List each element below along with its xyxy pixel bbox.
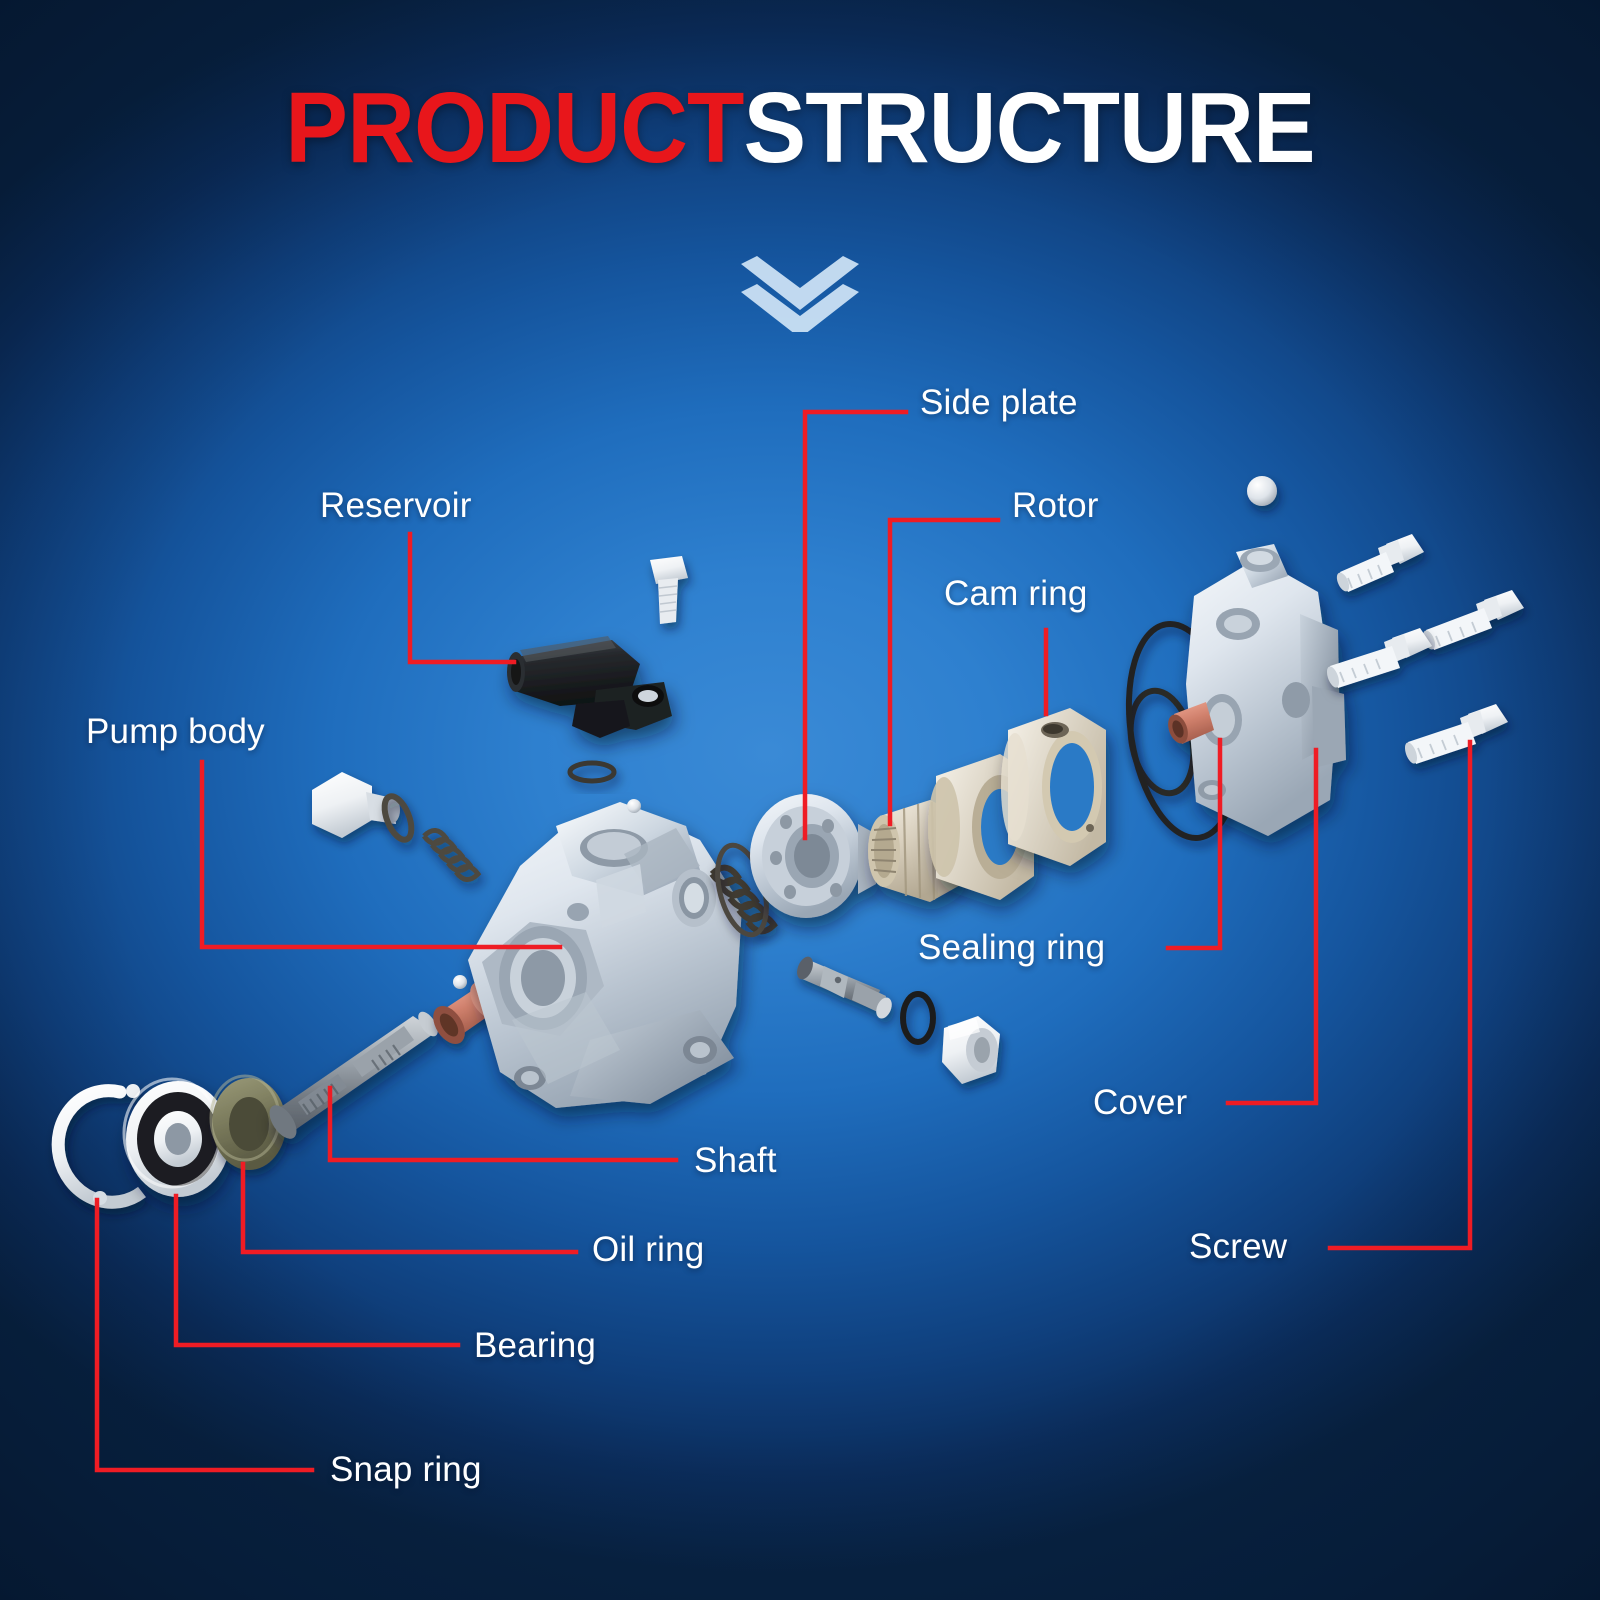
leader-lines: [0, 0, 1600, 1600]
callout-label-side-plate[interactable]: Side plate: [920, 385, 1078, 420]
callout-label-pump-body[interactable]: Pump body: [86, 714, 265, 749]
callout-label-snap-ring[interactable]: Snap ring: [330, 1452, 482, 1487]
callout-label-oil-ring[interactable]: Oil ring: [592, 1232, 704, 1267]
leader-reservoir: [410, 534, 514, 662]
leader-sealing-ring: [1168, 740, 1220, 948]
callout-label-rotor[interactable]: Rotor: [1012, 488, 1099, 523]
callout-label-shaft[interactable]: Shaft: [694, 1143, 777, 1178]
product-structure-diagram: PRODUCTSTRUCTURE: [0, 0, 1600, 1600]
leader-bearing: [176, 1196, 458, 1345]
callout-label-bearing[interactable]: Bearing: [474, 1328, 596, 1363]
leader-shaft: [330, 1088, 676, 1160]
leader-snap-ring: [97, 1200, 312, 1470]
callout-label-cam-ring[interactable]: Cam ring: [944, 576, 1088, 611]
callout-label-cover[interactable]: Cover: [1093, 1085, 1187, 1120]
leader-pump-body: [202, 762, 560, 947]
callout-label-screw[interactable]: Screw: [1189, 1229, 1287, 1264]
leader-oil-ring: [243, 1164, 576, 1252]
leader-screw: [1330, 742, 1470, 1248]
leader-cover: [1228, 750, 1316, 1103]
callout-label-reservoir[interactable]: Reservoir: [320, 488, 472, 523]
callout-label-sealing-ring[interactable]: Sealing ring: [918, 930, 1105, 965]
leader-rotor: [890, 520, 998, 824]
